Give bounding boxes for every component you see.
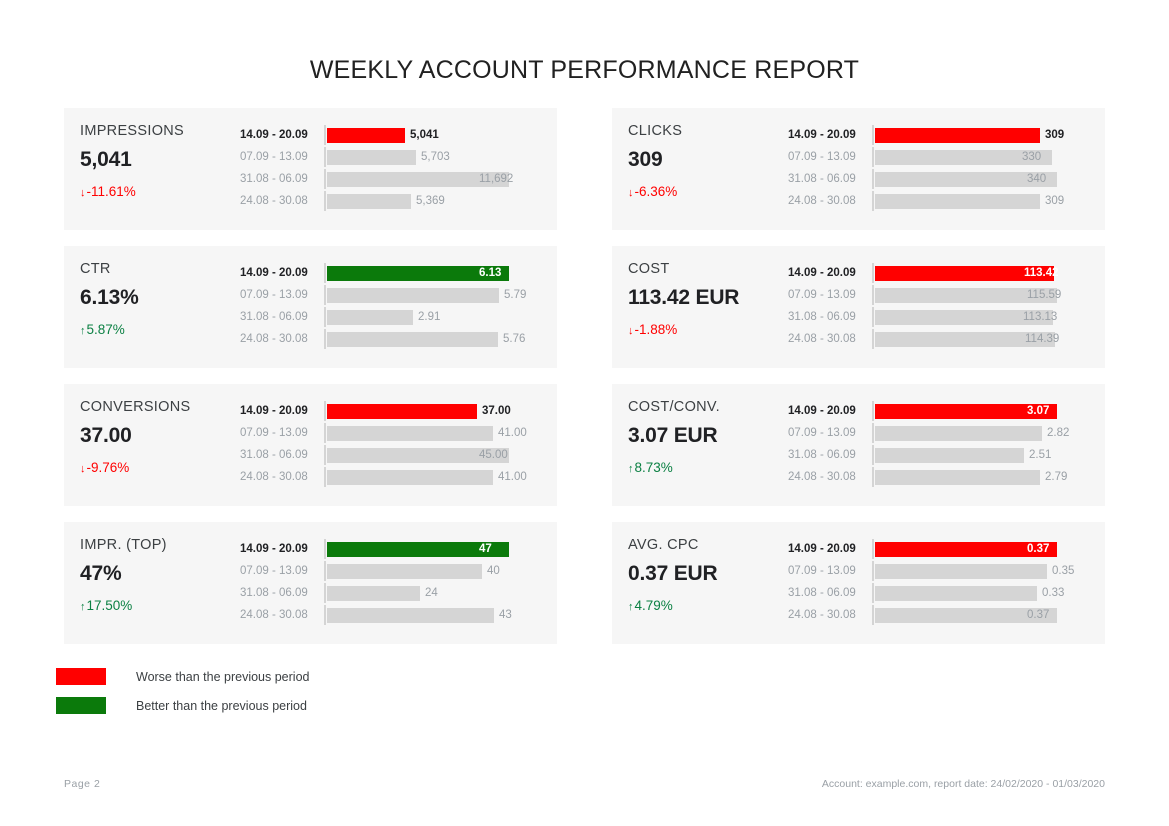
bar-row: 14.09 - 20.0937.00 <box>240 401 541 421</box>
bar-value-label: 0.37 <box>1027 543 1049 555</box>
legend-swatch-worse <box>56 668 106 685</box>
bar-value-label: 2.91 <box>418 311 440 323</box>
metric-value: 37.00 <box>80 424 240 448</box>
bar-fill <box>327 470 493 485</box>
bar-value-label: 309 <box>1045 129 1064 141</box>
bar-row: 07.09 - 13.09330 <box>788 147 1089 167</box>
metric-delta: ↓-1.88% <box>628 322 788 337</box>
bar-row: 31.08 - 06.092.51 <box>788 445 1089 465</box>
bar-period-label: 24.08 - 30.08 <box>240 609 324 621</box>
metric-delta-value: -6.36% <box>635 184 678 199</box>
bar-track: 5,369 <box>324 191 541 211</box>
bar-fill <box>327 332 498 347</box>
bar-period-label: 24.08 - 30.08 <box>788 195 872 207</box>
metric-card: AVG. CPC0.37 EUR↑4.79%14.09 - 20.090.370… <box>612 522 1105 644</box>
bar-value-label: 5.79 <box>504 289 526 301</box>
bar-period-label: 14.09 - 20.09 <box>788 267 872 279</box>
metric-name: CLICKS <box>628 123 788 139</box>
arrow-down-icon: ↓ <box>80 463 86 475</box>
bar-period-label: 24.08 - 30.08 <box>240 195 324 207</box>
metric-name: COST <box>628 261 788 277</box>
bar-fill <box>327 564 482 579</box>
bar-track: 113.42 <box>872 263 1089 283</box>
metric-name: CONVERSIONS <box>80 399 240 415</box>
bar-row: 24.08 - 30.082.79 <box>788 467 1089 487</box>
page-title: WEEKLY ACCOUNT PERFORMANCE REPORT <box>0 0 1169 85</box>
bar-period-label: 31.08 - 06.09 <box>788 587 872 599</box>
bar-value-label: 114.39 <box>1025 333 1059 345</box>
bar-value-label: 5.76 <box>503 333 525 345</box>
bar-value-label: 5,703 <box>421 151 450 163</box>
bar-fill <box>875 586 1037 601</box>
metric-delta: ↓-6.36% <box>628 184 788 199</box>
bar-fill <box>327 150 416 165</box>
metric-summary: IMPR. (TOP)47%↑17.50% <box>80 536 240 613</box>
bar-row: 24.08 - 30.08114.39 <box>788 329 1089 349</box>
metric-value: 309 <box>628 148 788 172</box>
metric-summary: CONVERSIONS37.00↓-9.76% <box>80 398 240 475</box>
bar-row: 07.09 - 13.0940 <box>240 561 541 581</box>
metric-bar-chart: 14.09 - 20.094707.09 - 13.094031.08 - 06… <box>240 536 541 627</box>
bar-track: 45.00 <box>324 445 541 465</box>
bar-row: 07.09 - 13.09115.59 <box>788 285 1089 305</box>
bar-value-label: 2.82 <box>1047 427 1069 439</box>
bar-period-label: 07.09 - 13.09 <box>240 289 324 301</box>
metric-cards-grid: IMPRESSIONS5,041↓-11.61%14.09 - 20.095,0… <box>64 108 1105 660</box>
bar-track: 113.13 <box>872 307 1089 327</box>
bar-track: 41.00 <box>324 423 541 443</box>
bar-value-label: 40 <box>487 565 500 577</box>
metric-delta-value: -9.76% <box>87 460 130 475</box>
bar-value-label: 5,041 <box>410 129 439 141</box>
bar-fill <box>327 586 420 601</box>
bar-period-label: 07.09 - 13.09 <box>240 151 324 163</box>
bar-value-label: 41.00 <box>498 427 527 439</box>
metric-name: IMPR. (TOP) <box>80 537 240 553</box>
bar-period-label: 24.08 - 30.08 <box>240 333 324 345</box>
metric-summary: AVG. CPC0.37 EUR↑4.79% <box>628 536 788 613</box>
bar-track: 37.00 <box>324 401 541 421</box>
bar-track: 114.39 <box>872 329 1089 349</box>
metric-delta: ↑4.79% <box>628 598 788 613</box>
metric-value: 113.42 EUR <box>628 286 788 310</box>
legend-label: Better than the previous period <box>136 699 307 713</box>
bar-row: 24.08 - 30.08309 <box>788 191 1089 211</box>
metric-delta-value: 8.73% <box>635 460 673 475</box>
arrow-down-icon: ↓ <box>628 325 634 337</box>
bar-fill <box>875 194 1040 209</box>
bar-row: 14.09 - 20.096.13 <box>240 263 541 283</box>
arrow-up-icon: ↑ <box>628 601 634 613</box>
footer-page-number: Page 2 <box>64 778 100 790</box>
bar-period-label: 24.08 - 30.08 <box>240 471 324 483</box>
metric-summary: COST/CONV.3.07 EUR↑8.73% <box>628 398 788 475</box>
bar-track: 2.79 <box>872 467 1089 487</box>
bar-value-label: 2.51 <box>1029 449 1051 461</box>
bar-row: 31.08 - 06.0911,692 <box>240 169 541 189</box>
bar-value-label: 11,692 <box>479 173 513 185</box>
bar-fill <box>327 194 411 209</box>
bar-row: 31.08 - 06.0924 <box>240 583 541 603</box>
metric-bar-chart: 14.09 - 20.090.3707.09 - 13.090.3531.08 … <box>788 536 1089 627</box>
bar-track: 309 <box>872 191 1089 211</box>
bar-value-label: 37.00 <box>482 405 511 417</box>
bar-track: 340 <box>872 169 1089 189</box>
metric-bar-chart: 14.09 - 20.095,04107.09 - 13.095,70331.0… <box>240 122 541 213</box>
metric-value: 5,041 <box>80 148 240 172</box>
bar-value-label: 41.00 <box>498 471 527 483</box>
metric-delta: ↑5.87% <box>80 322 240 337</box>
metric-bar-chart: 14.09 - 20.096.1307.09 - 13.095.7931.08 … <box>240 260 541 351</box>
bar-track: 6.13 <box>324 263 541 283</box>
bar-period-label: 14.09 - 20.09 <box>240 129 324 141</box>
bar-period-label: 14.09 - 20.09 <box>788 543 872 555</box>
metric-delta-value: -1.88% <box>635 322 678 337</box>
metric-card: IMPR. (TOP)47%↑17.50%14.09 - 20.094707.0… <box>64 522 557 644</box>
bar-period-label: 31.08 - 06.09 <box>240 449 324 461</box>
bar-row: 14.09 - 20.0947 <box>240 539 541 559</box>
bar-row: 07.09 - 13.095.79 <box>240 285 541 305</box>
legend-label: Worse than the previous period <box>136 670 309 684</box>
bar-row: 14.09 - 20.090.37 <box>788 539 1089 559</box>
bar-track: 0.33 <box>872 583 1089 603</box>
bar-row: 31.08 - 06.092.91 <box>240 307 541 327</box>
metric-summary: CTR6.13%↑5.87% <box>80 260 240 337</box>
bar-track: 43 <box>324 605 541 625</box>
bar-value-label: 113.13 <box>1023 311 1057 323</box>
bar-value-label: 43 <box>499 609 512 621</box>
bar-period-label: 31.08 - 06.09 <box>788 449 872 461</box>
arrow-down-icon: ↓ <box>628 187 634 199</box>
bar-value-label: 115.59 <box>1027 289 1061 301</box>
metric-delta-value: 4.79% <box>635 598 673 613</box>
bar-fill <box>875 448 1024 463</box>
bar-value-label: 113.42 <box>1024 267 1059 279</box>
bar-row: 14.09 - 20.093.07 <box>788 401 1089 421</box>
bar-period-label: 24.08 - 30.08 <box>788 609 872 621</box>
bar-value-label: 24 <box>425 587 438 599</box>
bar-track: 0.37 <box>872 539 1089 559</box>
arrow-down-icon: ↓ <box>80 187 86 199</box>
bar-track: 2.51 <box>872 445 1089 465</box>
bar-row: 31.08 - 06.090.33 <box>788 583 1089 603</box>
bar-track: 5.76 <box>324 329 541 349</box>
metric-name: CTR <box>80 261 240 277</box>
metric-summary: IMPRESSIONS5,041↓-11.61% <box>80 122 240 199</box>
bar-track: 309 <box>872 125 1089 145</box>
bar-period-label: 31.08 - 06.09 <box>240 587 324 599</box>
metric-delta-value: 17.50% <box>87 598 133 613</box>
metric-summary: CLICKS309↓-6.36% <box>628 122 788 199</box>
bar-value-label: 309 <box>1045 195 1064 207</box>
metric-value: 3.07 EUR <box>628 424 788 448</box>
arrow-up-icon: ↑ <box>80 325 86 337</box>
bar-period-label: 31.08 - 06.09 <box>788 173 872 185</box>
bar-row: 31.08 - 06.0945.00 <box>240 445 541 465</box>
bar-row: 31.08 - 06.09113.13 <box>788 307 1089 327</box>
bar-track: 0.35 <box>872 561 1089 581</box>
bar-period-label: 24.08 - 30.08 <box>788 471 872 483</box>
metric-name: IMPRESSIONS <box>80 123 240 139</box>
metric-card: CONVERSIONS37.00↓-9.76%14.09 - 20.0937.0… <box>64 384 557 506</box>
bar-track: 3.07 <box>872 401 1089 421</box>
bar-row: 14.09 - 20.09309 <box>788 125 1089 145</box>
bar-value-label: 0.35 <box>1052 565 1074 577</box>
footer: Page 2 Account: example.com, report date… <box>64 778 1105 790</box>
metric-value: 47% <box>80 562 240 586</box>
metric-delta-value: -11.61% <box>87 184 136 199</box>
bar-row: 14.09 - 20.09113.42 <box>788 263 1089 283</box>
bar-row: 24.08 - 30.0841.00 <box>240 467 541 487</box>
metric-bar-chart: 14.09 - 20.09113.4207.09 - 13.09115.5931… <box>788 260 1089 351</box>
bar-value-label: 0.33 <box>1042 587 1064 599</box>
bar-row: 07.09 - 13.0941.00 <box>240 423 541 443</box>
metric-bar-chart: 14.09 - 20.0930907.09 - 13.0933031.08 - … <box>788 122 1089 213</box>
bar-track: 11,692 <box>324 169 541 189</box>
bar-period-label: 14.09 - 20.09 <box>788 405 872 417</box>
bar-period-label: 31.08 - 06.09 <box>240 311 324 323</box>
bar-track: 47 <box>324 539 541 559</box>
bar-value-label: 0.37 <box>1027 609 1049 621</box>
bar-period-label: 07.09 - 13.09 <box>788 151 872 163</box>
bar-row: 24.08 - 30.080.37 <box>788 605 1089 625</box>
bar-value-label: 5,369 <box>416 195 445 207</box>
metric-delta: ↑8.73% <box>628 460 788 475</box>
bar-track: 330 <box>872 147 1089 167</box>
bar-value-label: 340 <box>1027 173 1046 185</box>
bar-track: 5.79 <box>324 285 541 305</box>
metric-bar-chart: 14.09 - 20.093.0707.09 - 13.092.8231.08 … <box>788 398 1089 489</box>
bar-period-label: 14.09 - 20.09 <box>240 405 324 417</box>
bar-value-label: 6.13 <box>479 267 501 279</box>
bar-period-label: 07.09 - 13.09 <box>240 427 324 439</box>
metric-card: COST/CONV.3.07 EUR↑8.73%14.09 - 20.093.0… <box>612 384 1105 506</box>
metric-delta: ↓-11.61% <box>80 184 240 199</box>
metric-card: COST113.42 EUR↓-1.88%14.09 - 20.09113.42… <box>612 246 1105 368</box>
bar-fill <box>875 426 1042 441</box>
bar-value-label: 45.00 <box>479 449 508 461</box>
bar-period-label: 07.09 - 13.09 <box>788 565 872 577</box>
bar-value-label: 330 <box>1022 151 1041 163</box>
legend-item: Better than the previous period <box>56 697 309 714</box>
bar-track: 41.00 <box>324 467 541 487</box>
bar-track: 2.82 <box>872 423 1089 443</box>
bar-period-label: 14.09 - 20.09 <box>240 267 324 279</box>
bar-row: 24.08 - 30.085,369 <box>240 191 541 211</box>
metric-bar-chart: 14.09 - 20.0937.0007.09 - 13.0941.0031.0… <box>240 398 541 489</box>
bar-track: 2.91 <box>324 307 541 327</box>
bar-track: 40 <box>324 561 541 581</box>
metric-delta-value: 5.87% <box>87 322 125 337</box>
bar-period-label: 07.09 - 13.09 <box>240 565 324 577</box>
bar-fill <box>327 426 493 441</box>
bar-track: 5,041 <box>324 125 541 145</box>
footer-account-info: Account: example.com, report date: 24/02… <box>822 778 1105 790</box>
bar-row: 07.09 - 13.090.35 <box>788 561 1089 581</box>
bar-fill <box>875 470 1040 485</box>
metric-delta: ↑17.50% <box>80 598 240 613</box>
bar-track: 5,703 <box>324 147 541 167</box>
metric-card: CLICKS309↓-6.36%14.09 - 20.0930907.09 - … <box>612 108 1105 230</box>
arrow-up-icon: ↑ <box>80 601 86 613</box>
bar-fill <box>327 310 413 325</box>
legend-item: Worse than the previous period <box>56 668 309 685</box>
bar-track: 24 <box>324 583 541 603</box>
metric-name: AVG. CPC <box>628 537 788 553</box>
bar-period-label: 31.08 - 06.09 <box>788 311 872 323</box>
bar-fill <box>327 288 499 303</box>
bar-row: 14.09 - 20.095,041 <box>240 125 541 145</box>
bar-row: 24.08 - 30.0843 <box>240 605 541 625</box>
legend-swatch-better <box>56 697 106 714</box>
metric-delta: ↓-9.76% <box>80 460 240 475</box>
bar-period-label: 07.09 - 13.09 <box>788 289 872 301</box>
bar-period-label: 14.09 - 20.09 <box>240 543 324 555</box>
arrow-up-icon: ↑ <box>628 463 634 475</box>
bar-row: 31.08 - 06.09340 <box>788 169 1089 189</box>
bar-fill <box>875 128 1040 143</box>
bar-row: 24.08 - 30.085.76 <box>240 329 541 349</box>
bar-value-label: 47 <box>479 543 492 555</box>
bar-period-label: 31.08 - 06.09 <box>240 173 324 185</box>
bar-period-label: 07.09 - 13.09 <box>788 427 872 439</box>
metric-card: IMPRESSIONS5,041↓-11.61%14.09 - 20.095,0… <box>64 108 557 230</box>
bar-fill <box>327 128 405 143</box>
bar-track: 0.37 <box>872 605 1089 625</box>
bar-period-label: 24.08 - 30.08 <box>788 333 872 345</box>
metric-value: 6.13% <box>80 286 240 310</box>
bar-row: 07.09 - 13.095,703 <box>240 147 541 167</box>
bar-period-label: 14.09 - 20.09 <box>788 129 872 141</box>
metric-card: CTR6.13%↑5.87%14.09 - 20.096.1307.09 - 1… <box>64 246 557 368</box>
bar-value-label: 3.07 <box>1027 405 1049 417</box>
bar-row: 07.09 - 13.092.82 <box>788 423 1089 443</box>
bar-track: 115.59 <box>872 285 1089 305</box>
metric-summary: COST113.42 EUR↓-1.88% <box>628 260 788 337</box>
metric-name: COST/CONV. <box>628 399 788 415</box>
metric-value: 0.37 EUR <box>628 562 788 586</box>
bar-fill <box>327 608 494 623</box>
legend: Worse than the previous periodBetter tha… <box>56 668 309 726</box>
bar-value-label: 2.79 <box>1045 471 1067 483</box>
bar-fill <box>327 404 477 419</box>
bar-fill <box>875 564 1047 579</box>
